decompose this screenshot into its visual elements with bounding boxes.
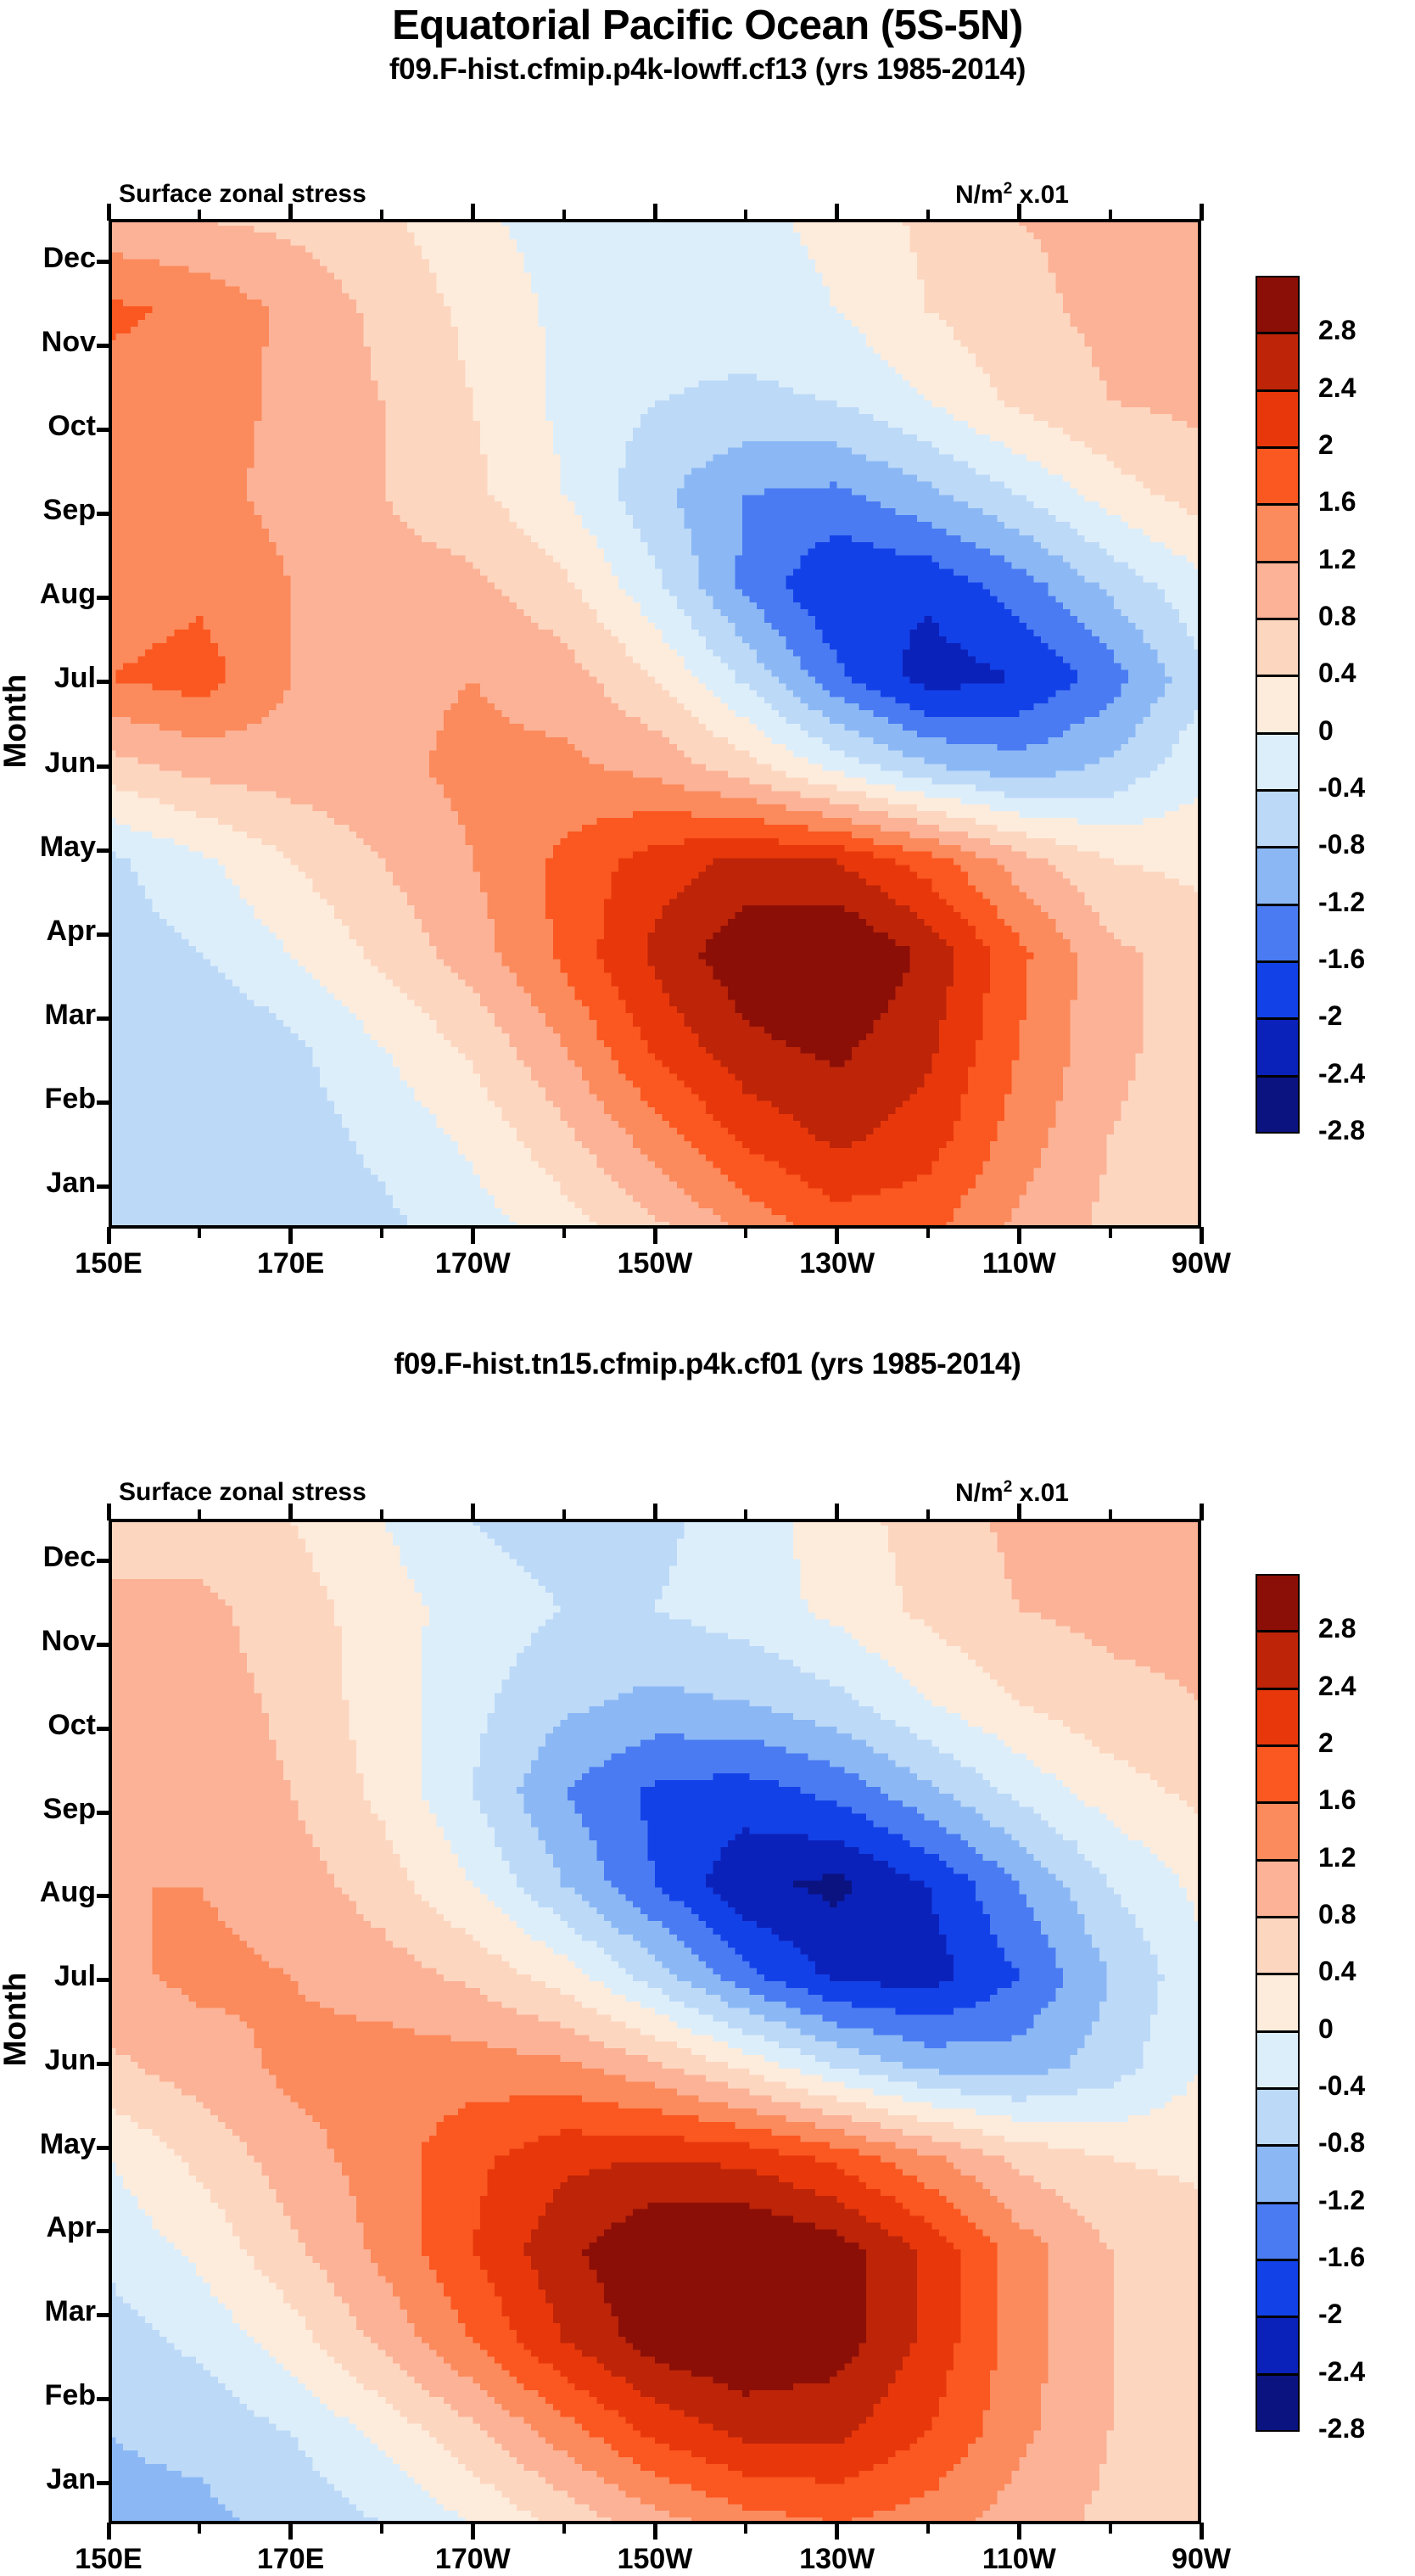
x-minor-tick-mark xyxy=(744,1227,747,1238)
y-tick-label: Apr xyxy=(0,915,96,948)
colorbar-tick-label: 1.6 xyxy=(1318,1784,1356,1816)
x-tick-label: 130W xyxy=(761,2543,914,2576)
x-tick-mark xyxy=(288,204,293,221)
y-tick-label: Mar xyxy=(0,999,96,1032)
y-tick-label: Mar xyxy=(0,2295,96,2328)
colorbar-swatch xyxy=(1256,2374,1300,2432)
x-minor-tick-mark xyxy=(198,1509,201,1520)
y-tick-mark xyxy=(97,260,112,264)
x-minor-tick-mark xyxy=(562,1509,566,1520)
y-tick-mark xyxy=(97,2313,112,2317)
x-tick-mark xyxy=(471,204,475,221)
colorbar-tick-label: -1.2 xyxy=(1318,2185,1365,2216)
y-tick-label: Dec xyxy=(0,1541,96,1574)
y-tick-mark xyxy=(97,1100,112,1105)
x-tick-mark xyxy=(653,2523,657,2540)
x-minor-tick-mark xyxy=(1109,210,1112,221)
y-tick-label: Jan xyxy=(0,2463,96,2496)
y-tick-label: Jun xyxy=(0,2044,96,2077)
colorbar-swatch xyxy=(1256,2145,1300,2203)
x-tick-mark xyxy=(653,204,657,221)
y-tick-mark xyxy=(97,2481,112,2485)
x-tick-mark xyxy=(288,1504,293,1520)
y-tick-label: Feb xyxy=(0,2379,96,2412)
x-tick-mark xyxy=(471,1227,475,1244)
y-tick-label: May xyxy=(0,831,96,864)
x-tick-mark xyxy=(288,2523,293,2540)
x-minor-tick-mark xyxy=(380,210,383,221)
colorbar-swatch xyxy=(1256,1860,1300,1918)
figure-title: Equatorial Pacific Ocean (5S-5N) xyxy=(0,2,1415,49)
colorbar-swatch xyxy=(1256,447,1300,505)
colorbar-swatch xyxy=(1256,675,1300,733)
x-tick-label: 150E xyxy=(32,2543,185,2576)
y-tick-mark xyxy=(97,1184,112,1189)
x-tick-label: 90W xyxy=(1125,2543,1278,2576)
y-tick-mark xyxy=(97,2229,112,2233)
colorbar-tick-label: 2.8 xyxy=(1318,315,1356,346)
y-tick-mark xyxy=(97,1016,112,1021)
colorbar-tick-label: 2 xyxy=(1318,1728,1334,1759)
x-minor-tick-mark xyxy=(926,2523,930,2534)
colorbar-tick-label: -1.2 xyxy=(1318,887,1365,918)
x-tick-mark xyxy=(107,1504,111,1520)
x-tick-label: 150W xyxy=(579,1247,731,1280)
colorbar-tick-label: -1.6 xyxy=(1318,944,1365,975)
colorbar-tick-label: -1.6 xyxy=(1318,2242,1365,2273)
y-tick-label: Oct xyxy=(0,1709,96,1742)
y-tick-mark xyxy=(97,512,112,516)
x-tick-label: 170W xyxy=(396,1247,549,1280)
y-tick-label: May xyxy=(0,2128,96,2161)
x-tick-mark xyxy=(471,2523,475,2540)
colorbar-tick-label: 1.6 xyxy=(1318,486,1356,518)
contour-plot-area[interactable] xyxy=(109,219,1201,1229)
y-tick-mark xyxy=(97,596,112,600)
colorbar-tick-label: 0 xyxy=(1318,715,1334,747)
colorbar-swatch xyxy=(1256,2031,1300,2089)
x-minor-tick-mark xyxy=(926,210,930,221)
units-exponent: 2 xyxy=(1004,180,1013,198)
colorbar-tick-label: 2 xyxy=(1318,429,1334,461)
x-minor-tick-mark xyxy=(926,1227,930,1238)
y-tick-label: Aug xyxy=(0,1876,96,1909)
y-tick-label: Nov xyxy=(0,1625,96,1658)
units-exponent: 2 xyxy=(1004,1478,1013,1496)
x-tick-mark xyxy=(1200,1504,1204,1520)
y-tick-label: Feb xyxy=(0,1083,96,1116)
x-tick-mark xyxy=(471,1504,475,1520)
colorbar-swatch xyxy=(1256,390,1300,448)
units-main: N/m xyxy=(955,181,1004,209)
y-tick-mark xyxy=(97,1894,112,1898)
x-tick-mark xyxy=(653,1227,657,1244)
x-tick-mark xyxy=(1200,204,1204,221)
colorbar-swatch xyxy=(1256,961,1300,1019)
colorbar-tick-label: -2 xyxy=(1318,2299,1342,2330)
x-tick-mark xyxy=(288,1227,293,1244)
colorbar-tick-label: -0.4 xyxy=(1318,772,1365,804)
y-tick-mark xyxy=(97,680,112,684)
y-tick-mark xyxy=(97,2062,112,2066)
colorbar-tick-label: 0.8 xyxy=(1318,1899,1356,1930)
colorbar-tick-label: 2.8 xyxy=(1318,1613,1356,1644)
x-tick-mark xyxy=(835,1227,839,1244)
x-minor-tick-mark xyxy=(744,2523,747,2534)
colorbar-swatch xyxy=(1256,1076,1300,1134)
colorbar-swatch xyxy=(1256,2088,1300,2146)
contour-plot-area[interactable] xyxy=(109,1519,1201,2524)
contour-field xyxy=(109,219,1201,1229)
colorbar-tick-label: 1.2 xyxy=(1318,544,1356,575)
contour-field xyxy=(109,1519,1201,2524)
colorbar-swatch xyxy=(1256,2260,1300,2317)
x-minor-tick-mark xyxy=(1109,1227,1112,1238)
x-tick-mark xyxy=(107,1227,111,1244)
colorbar-swatch xyxy=(1256,504,1300,562)
x-tick-label: 110W xyxy=(942,1247,1095,1280)
x-tick-mark xyxy=(835,1504,839,1520)
units-main: N/m xyxy=(955,1479,1004,1507)
colorbar-tick-label: 1.2 xyxy=(1318,1842,1356,1873)
y-tick-mark xyxy=(97,1643,112,1647)
colorbar-swatch xyxy=(1256,1688,1300,1746)
x-tick-mark xyxy=(1200,1227,1204,1244)
y-tick-mark xyxy=(97,2146,112,2150)
x-minor-tick-mark xyxy=(562,1227,566,1238)
colorbar-tick-label: -0.8 xyxy=(1318,2127,1365,2159)
y-tick-label: Jul xyxy=(0,662,96,695)
y-tick-mark xyxy=(97,1727,112,1731)
colorbar-swatch xyxy=(1256,904,1300,962)
x-tick-mark xyxy=(653,1504,657,1520)
x-minor-tick-mark xyxy=(198,1227,201,1238)
colorbar-swatch xyxy=(1256,1631,1300,1688)
colorbar-swatch xyxy=(1256,619,1300,676)
figure-root: Equatorial Pacific Ocean (5S-5N) f09.F-h… xyxy=(0,0,1415,2552)
y-tick-label: Nov xyxy=(0,326,96,359)
x-minor-tick-mark xyxy=(1109,2523,1112,2534)
x-tick-mark xyxy=(1017,2523,1021,2540)
colorbar-swatch xyxy=(1256,1745,1300,1803)
panel-header-left: Surface zonal stress xyxy=(119,180,366,209)
y-tick-mark xyxy=(97,1811,112,1815)
y-tick-mark xyxy=(97,428,112,432)
panel-header-units: N/m2 x.01 xyxy=(955,1478,1069,1508)
panel-subtitle: f09.F-hist.tn15.cfmip.p4k.cf01 (yrs 1985… xyxy=(0,1347,1415,1381)
colorbar-tick-label: -2.4 xyxy=(1318,2356,1365,2388)
colorbar-swatch xyxy=(1256,790,1300,848)
x-minor-tick-mark xyxy=(380,2523,383,2534)
colorbar-swatch xyxy=(1256,1917,1300,1974)
colorbar-tick-label: -2 xyxy=(1318,1000,1342,1032)
y-tick-label: Dec xyxy=(0,242,96,275)
colorbar-tick-label: 0 xyxy=(1318,2013,1334,2045)
colorbar-swatch xyxy=(1256,1018,1300,1076)
y-tick-label: Jul xyxy=(0,1960,96,1993)
x-minor-tick-mark xyxy=(380,1227,383,1238)
colorbar-tick-label: -2.8 xyxy=(1318,2413,1365,2444)
x-tick-mark xyxy=(835,204,839,221)
x-tick-label: 130W xyxy=(761,1247,914,1280)
colorbar-tick-label: -2.4 xyxy=(1318,1058,1365,1089)
y-tick-mark xyxy=(97,1559,112,1563)
y-tick-label: Aug xyxy=(0,578,96,611)
y-tick-mark xyxy=(97,2397,112,2401)
colorbar-swatch xyxy=(1256,333,1300,390)
colorbar[interactable]: 2.82.421.61.20.80.40-0.4-0.8-1.2-1.6-2-2… xyxy=(1256,1574,1300,2431)
x-tick-label: 170W xyxy=(396,2543,549,2576)
colorbar[interactable]: 2.82.421.61.20.80.40-0.4-0.8-1.2-1.6-2-2… xyxy=(1256,276,1300,1133)
x-tick-mark xyxy=(1017,204,1021,221)
colorbar-tick-label: -0.8 xyxy=(1318,829,1365,860)
x-minor-tick-mark xyxy=(380,1509,383,1520)
x-tick-label: 170E xyxy=(215,1247,367,1280)
x-minor-tick-mark xyxy=(198,210,201,221)
y-tick-mark xyxy=(97,848,112,853)
panel-header-units: N/m2 x.01 xyxy=(955,180,1069,210)
x-minor-tick-mark xyxy=(1109,1509,1112,1520)
y-tick-label: Sep xyxy=(0,494,96,527)
colorbar-swatch xyxy=(1256,1802,1300,1860)
x-tick-label: 90W xyxy=(1125,1247,1278,1280)
colorbar-swatch xyxy=(1256,1974,1300,2031)
colorbar-tick-label: 2.4 xyxy=(1318,1671,1356,1702)
x-minor-tick-mark xyxy=(198,2523,201,2534)
colorbar-swatch xyxy=(1256,733,1300,791)
colorbar-tick-label: -0.4 xyxy=(1318,2070,1365,2102)
y-tick-mark xyxy=(97,1978,112,1982)
y-tick-label: Apr xyxy=(0,2211,96,2244)
x-tick-label: 170E xyxy=(215,2543,367,2576)
colorbar-swatch xyxy=(1256,847,1300,904)
y-tick-label: Jan xyxy=(0,1167,96,1200)
colorbar-swatch xyxy=(1256,2316,1300,2374)
x-tick-mark xyxy=(835,2523,839,2540)
x-minor-tick-mark xyxy=(744,210,747,221)
colorbar-swatch xyxy=(1256,562,1300,619)
y-tick-mark xyxy=(97,932,112,937)
x-tick-label: 110W xyxy=(942,2543,1095,2576)
colorbar-swatch xyxy=(1256,1574,1300,1632)
y-tick-mark xyxy=(97,764,112,769)
y-tick-mark xyxy=(97,344,112,348)
y-tick-label: Sep xyxy=(0,1793,96,1826)
x-minor-tick-mark xyxy=(744,1509,747,1520)
panel-subtitle: f09.F-hist.cfmip.p4k-lowff.cf13 (yrs 198… xyxy=(0,53,1415,87)
x-tick-mark xyxy=(1017,1227,1021,1244)
colorbar-tick-label: 0.4 xyxy=(1318,658,1356,689)
x-minor-tick-mark xyxy=(926,1509,930,1520)
panel-header-left: Surface zonal stress xyxy=(119,1478,366,1507)
colorbar-tick-label: 0.4 xyxy=(1318,1956,1356,1987)
colorbar-tick-label: 2.4 xyxy=(1318,372,1356,404)
x-minor-tick-mark xyxy=(562,2523,566,2534)
x-tick-mark xyxy=(1200,2523,1204,2540)
y-tick-label: Oct xyxy=(0,410,96,443)
x-tick-mark xyxy=(107,204,111,221)
x-tick-mark xyxy=(1017,1504,1021,1520)
colorbar-tick-label: 0.8 xyxy=(1318,601,1356,632)
y-tick-label: Jun xyxy=(0,747,96,780)
x-tick-label: 150W xyxy=(579,2543,731,2576)
x-tick-label: 150E xyxy=(32,1247,185,1280)
x-minor-tick-mark xyxy=(562,210,566,221)
colorbar-tick-label: -2.8 xyxy=(1318,1115,1365,1146)
colorbar-swatch xyxy=(1256,2203,1300,2260)
x-tick-mark xyxy=(107,2523,111,2540)
colorbar-swatch xyxy=(1256,276,1300,333)
